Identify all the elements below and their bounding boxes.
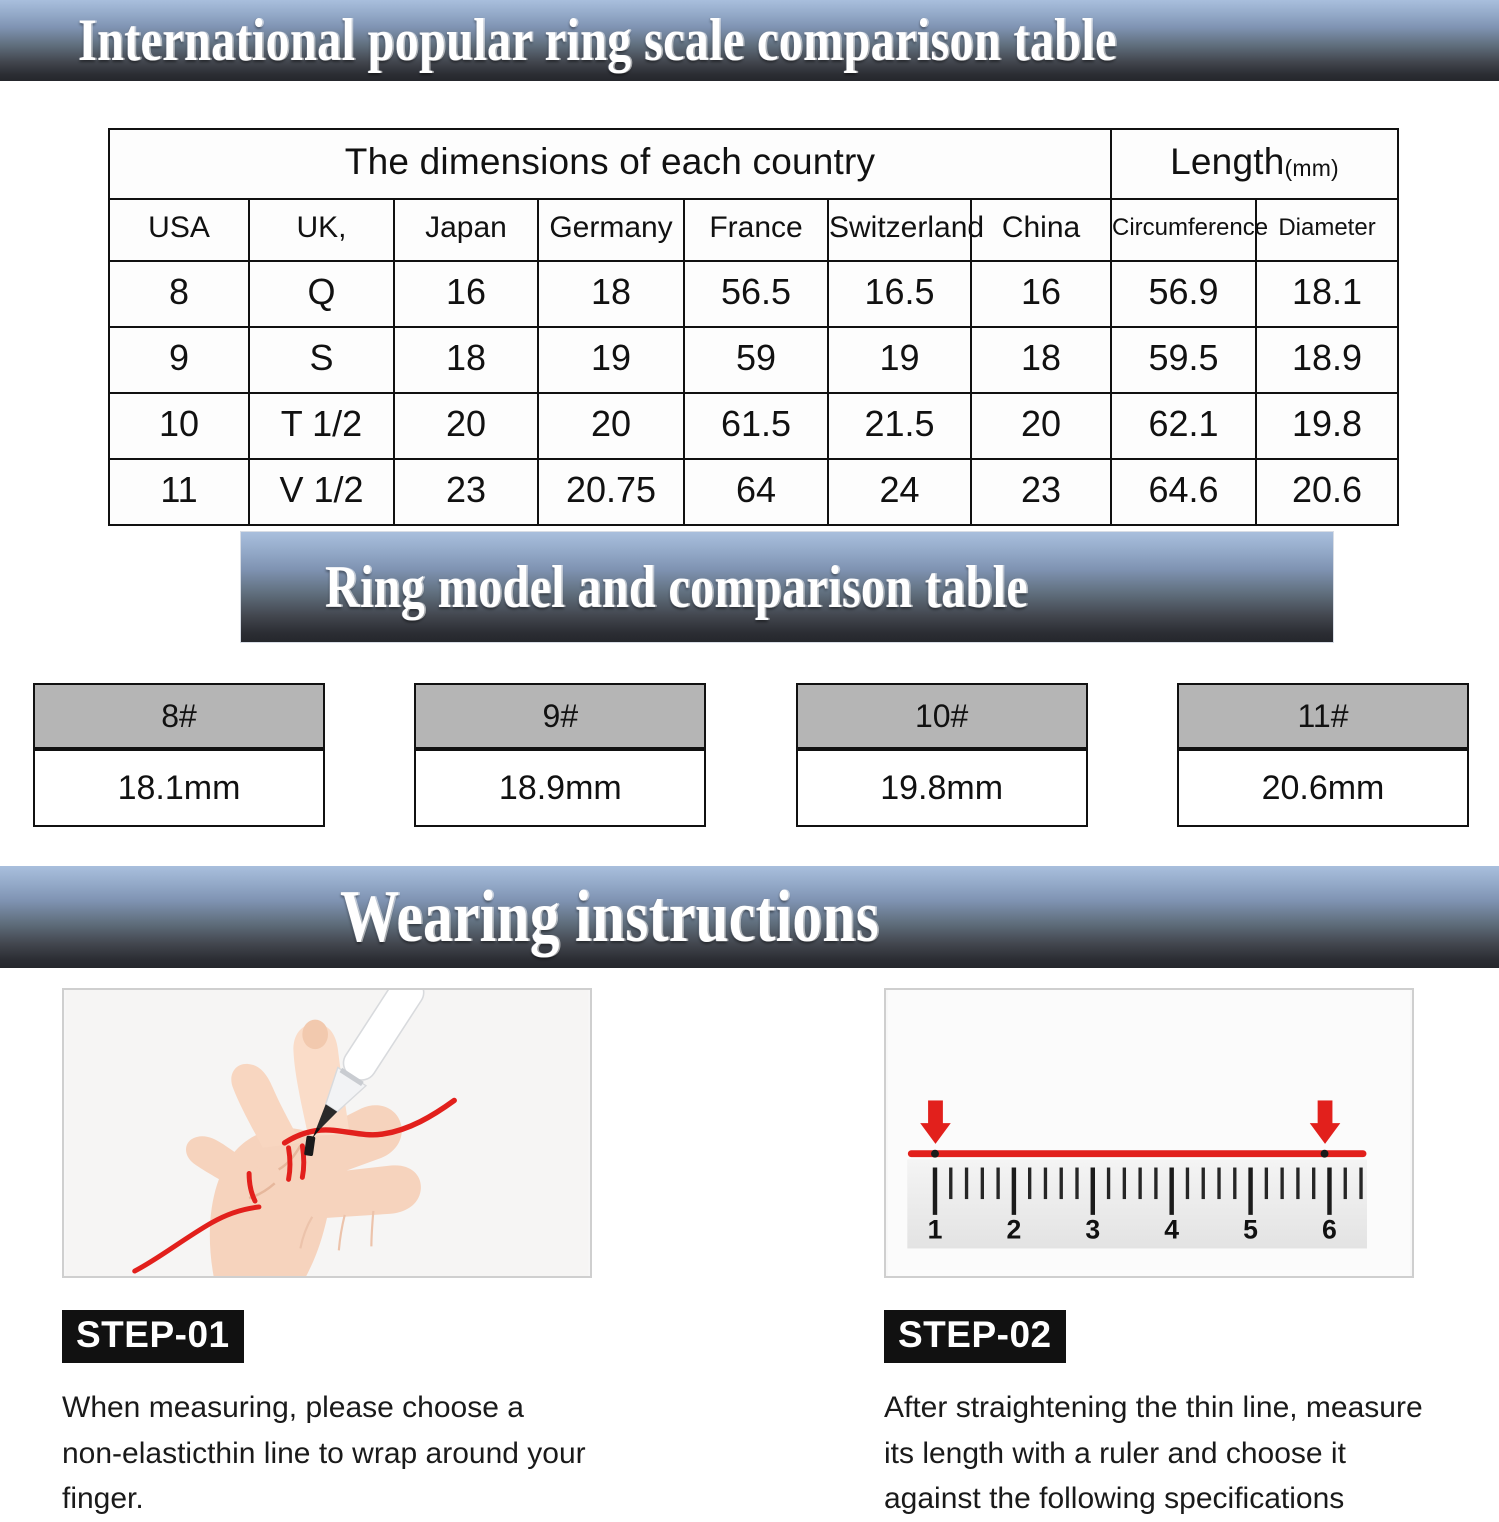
cell-france: 59 [684,327,828,393]
cell-diameter: 19.8 [1256,393,1398,459]
cell-switzerland: 16.5 [828,261,971,327]
banner-wearing-instructions: Wearing instructions [0,866,1499,968]
col-header-usa: USA [109,199,249,261]
cell-uk: V 1/2 [249,459,394,525]
cell-uk: S [249,327,394,393]
hand-with-thread-illustration [64,990,590,1276]
ring-model-card-list: 8# 18.1mm 9# 18.9mm 10# 19.8mm 11# 20.6m… [33,683,1469,827]
cell-china: 16 [971,261,1111,327]
svg-text:1: 1 [928,1215,943,1245]
cell-germany: 19 [538,327,684,393]
step-01-photo [62,988,592,1278]
cell-usa: 9 [109,327,249,393]
step-01-badge: STEP-01 [62,1310,244,1363]
cell-japan: 18 [394,327,538,393]
cell-diameter: 20.6 [1256,459,1398,525]
cell-france: 61.5 [684,393,828,459]
col-header-switzerland: Switzerland [828,199,971,261]
ring-card-size: 9# [416,685,704,751]
step-01-block: STEP-01 When measuring, please choose a … [62,988,592,1522]
col-header-uk: UK, [249,199,394,261]
cell-uk: T 1/2 [249,393,394,459]
step-02-badge: STEP-02 [884,1310,1066,1363]
svg-text:6: 6 [1322,1215,1337,1245]
cell-circumference: 64.6 [1111,459,1256,525]
cell-japan: 20 [394,393,538,459]
cell-circumference: 56.9 [1111,261,1256,327]
ring-card-9: 9# 18.9mm [414,683,706,827]
ring-card-11: 11# 20.6mm [1177,683,1469,827]
cell-usa: 11 [109,459,249,525]
table-row: 11 V 1/2 23 20.75 64 24 23 64.6 20.6 [109,459,1398,525]
cell-switzerland: 21.5 [828,393,971,459]
cell-diameter: 18.9 [1256,327,1398,393]
group-header-length: Length(mm) [1111,129,1398,199]
svg-text:2: 2 [1006,1215,1021,1245]
cell-diameter: 18.1 [1256,261,1398,327]
cell-china: 18 [971,327,1111,393]
svg-text:3: 3 [1085,1215,1100,1245]
ring-size-comparison-table: The dimensions of each country Length(mm… [108,128,1399,526]
svg-text:5: 5 [1243,1215,1258,1245]
ring-card-10: 10# 19.8mm [796,683,1088,827]
col-header-china: China [971,199,1111,261]
cell-germany: 20.75 [538,459,684,525]
svg-text:4: 4 [1164,1215,1179,1245]
cell-france: 56.5 [684,261,828,327]
ring-card-diameter: 18.1mm [35,751,323,825]
group-header-length-unit: (mm) [1284,155,1338,181]
table-row: 10 T 1/2 20 20 61.5 21.5 20 62.1 19.8 [109,393,1398,459]
step-02-block: 1 2 3 4 5 6 STEP-02 After straightening … [884,988,1414,1522]
col-header-circumference: Circumference [1111,199,1256,261]
col-header-japan: Japan [394,199,538,261]
group-header-length-label: Length [1170,141,1284,182]
cell-china: 20 [971,393,1111,459]
cell-germany: 18 [538,261,684,327]
cell-france: 64 [684,459,828,525]
banner-ring-model-table: Ring model and comparison table [241,532,1333,642]
col-header-diameter: Diameter [1256,199,1398,261]
ring-card-size: 8# [35,685,323,751]
cell-circumference: 59.5 [1111,327,1256,393]
cell-china: 23 [971,459,1111,525]
step-02-description: After straightening the thin line, measu… [884,1385,1444,1522]
step-02-photo: 1 2 3 4 5 6 [884,988,1414,1278]
cell-usa: 10 [109,393,249,459]
ring-card-8: 8# 18.1mm [33,683,325,827]
cell-usa: 8 [109,261,249,327]
banner-3-title: Wearing instructions [340,875,879,960]
ruler-measuring-thread-illustration: 1 2 3 4 5 6 [886,990,1412,1276]
cell-switzerland: 24 [828,459,971,525]
ring-card-size: 11# [1179,685,1467,751]
banner-1-title: International popular ring scale compari… [78,6,1117,75]
ring-card-diameter: 18.9mm [416,751,704,825]
col-header-france: France [684,199,828,261]
cell-japan: 23 [394,459,538,525]
ring-card-diameter: 19.8mm [798,751,1086,825]
col-header-germany: Germany [538,199,684,261]
cell-uk: Q [249,261,394,327]
ring-card-size: 10# [798,685,1086,751]
cell-switzerland: 19 [828,327,971,393]
cell-germany: 20 [538,393,684,459]
table-column-header-row: USA UK, Japan Germany France Switzerland… [109,199,1398,261]
cell-circumference: 62.1 [1111,393,1256,459]
group-header-countries: The dimensions of each country [109,129,1111,199]
banner-international-table: International popular ring scale compari… [0,0,1499,81]
table-group-header-row: The dimensions of each country Length(mm… [109,129,1398,199]
ring-card-diameter: 20.6mm [1179,751,1467,825]
table-row: 9 S 18 19 59 19 18 59.5 18.9 [109,327,1398,393]
banner-2-title: Ring model and comparison table [325,553,1028,622]
cell-japan: 16 [394,261,538,327]
step-01-description: When measuring, please choose a non-elas… [62,1385,592,1522]
table-row: 8 Q 16 18 56.5 16.5 16 56.9 18.1 [109,261,1398,327]
